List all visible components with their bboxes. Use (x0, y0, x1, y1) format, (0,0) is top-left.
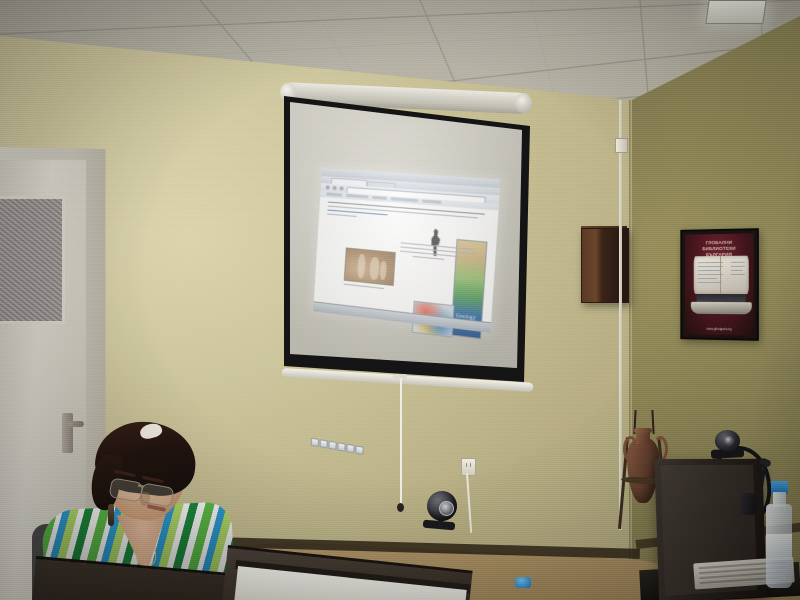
earring (108, 504, 114, 526)
taskbar-app-icon[interactable] (337, 442, 345, 451)
wall-poster: ГЛОБАЛНИ БИБЛИОТЕКИ БЪЛГАРИЯ www.glbulga… (680, 228, 759, 341)
floor-bottle-cap[interactable] (515, 577, 531, 588)
poster-artwork: ГЛОБАЛНИ БИБЛИОТЕКИ БЪЛГАРИЯ www.glbulga… (685, 233, 754, 335)
projection-screen: Geology (282, 82, 544, 382)
conduit-junction-box (615, 138, 628, 153)
taskbar-app-icon[interactable] (346, 443, 355, 452)
amphora-lip (634, 428, 652, 433)
room-photo: Geology (0, 0, 800, 600)
poster-title-line-1: ГЛОБАЛНИ БИБЛИОТЕКИ (702, 240, 735, 251)
screen-pull-cord[interactable] (400, 378, 402, 506)
wall-power-outlet[interactable] (461, 458, 476, 476)
screen-glare (290, 96, 522, 374)
ceiling-light-icon (705, 0, 766, 24)
screen-pull-ring[interactable] (397, 503, 404, 512)
taskbar-app-icon[interactable] (355, 445, 364, 454)
poster-url: www.glbulgaria.bg (689, 327, 750, 332)
wall-conduit (619, 100, 622, 530)
taskbar-app-icon[interactable] (328, 440, 336, 449)
headset-earcup (740, 493, 757, 515)
right-webcam-lens (724, 436, 734, 446)
poster-laptop-icon (691, 302, 752, 315)
poster-book-spine (720, 256, 721, 294)
taskbar-app-icon[interactable] (311, 437, 319, 446)
bottle-label (766, 534, 792, 560)
screen-housing-cap-right (515, 93, 532, 113)
taskbar-app-icon[interactable] (320, 439, 328, 448)
webcam-lens (439, 501, 454, 516)
door-glass-panel (0, 196, 65, 324)
door-handle-lever[interactable] (68, 421, 84, 427)
